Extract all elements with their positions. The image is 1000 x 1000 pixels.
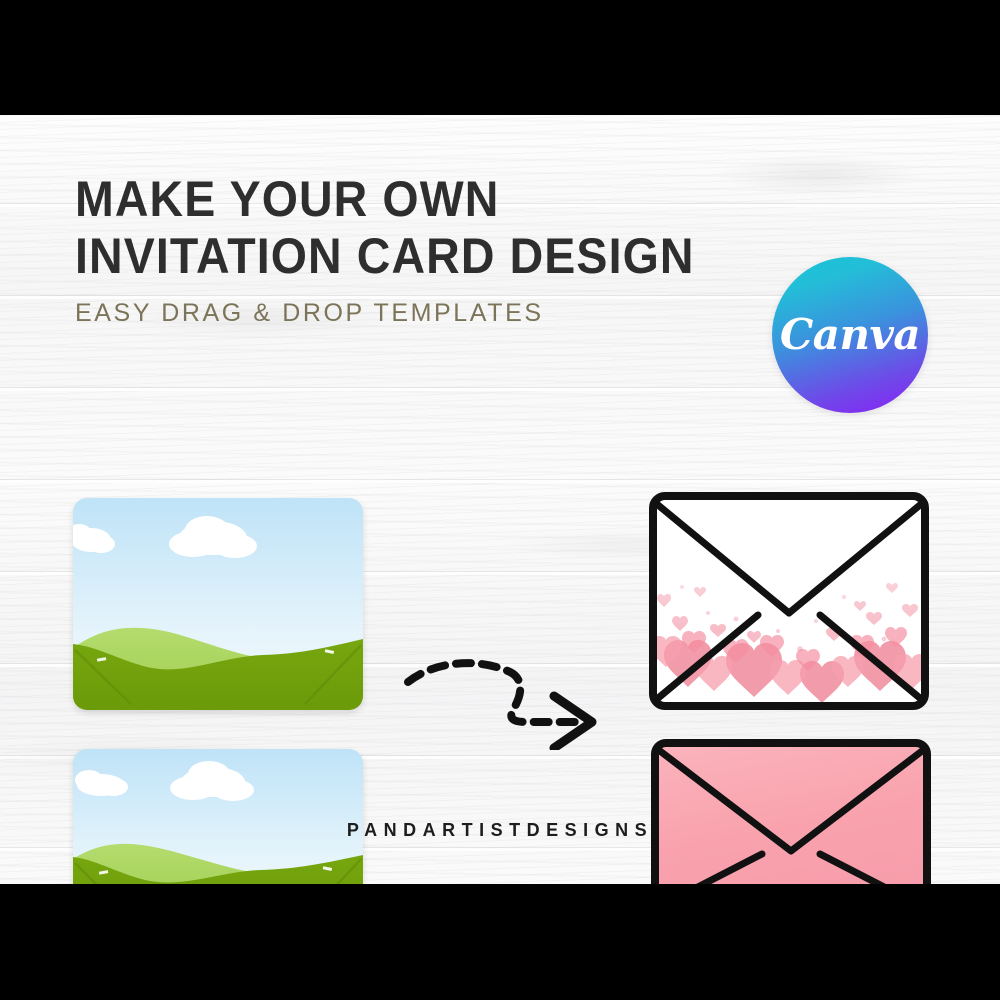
landscape-card-template-1[interactable] bbox=[73, 498, 363, 710]
page-title-line-1: MAKE YOUR OWN bbox=[75, 171, 695, 228]
landscape-card-template-2[interactable] bbox=[73, 749, 363, 884]
wood-background-canvas: MAKE YOUR OWN INVITATION CARD DESIGN EAS… bbox=[0, 115, 1000, 884]
promo-graphic: MAKE YOUR OWN INVITATION CARD DESIGN EAS… bbox=[0, 0, 1000, 1000]
envelope-pink[interactable] bbox=[650, 738, 932, 884]
cloud-group-1 bbox=[73, 516, 257, 558]
envelope-body bbox=[655, 743, 927, 884]
headline-block: MAKE YOUR OWN INVITATION CARD DESIGN EAS… bbox=[75, 171, 741, 328]
cloud-group-2 bbox=[75, 761, 254, 801]
letterbox-bar-top bbox=[0, 0, 1000, 115]
page-subtitle: EASY DRAG & DROP TEMPLATES bbox=[75, 299, 741, 328]
letterbox-bar-bottom bbox=[0, 884, 1000, 1000]
brand-credit: PANDARTISTDESIGNS bbox=[0, 820, 1000, 841]
card-scene-1 bbox=[73, 498, 363, 710]
card-scene-2 bbox=[73, 749, 363, 884]
dashed-curved-arrow bbox=[402, 650, 622, 750]
envelope-white-hearts[interactable] bbox=[648, 491, 930, 711]
canva-wordmark: Canva bbox=[780, 310, 920, 359]
canva-logo-badge: Canva bbox=[772, 257, 928, 413]
page-title-line-2: INVITATION CARD DESIGN bbox=[75, 228, 695, 285]
